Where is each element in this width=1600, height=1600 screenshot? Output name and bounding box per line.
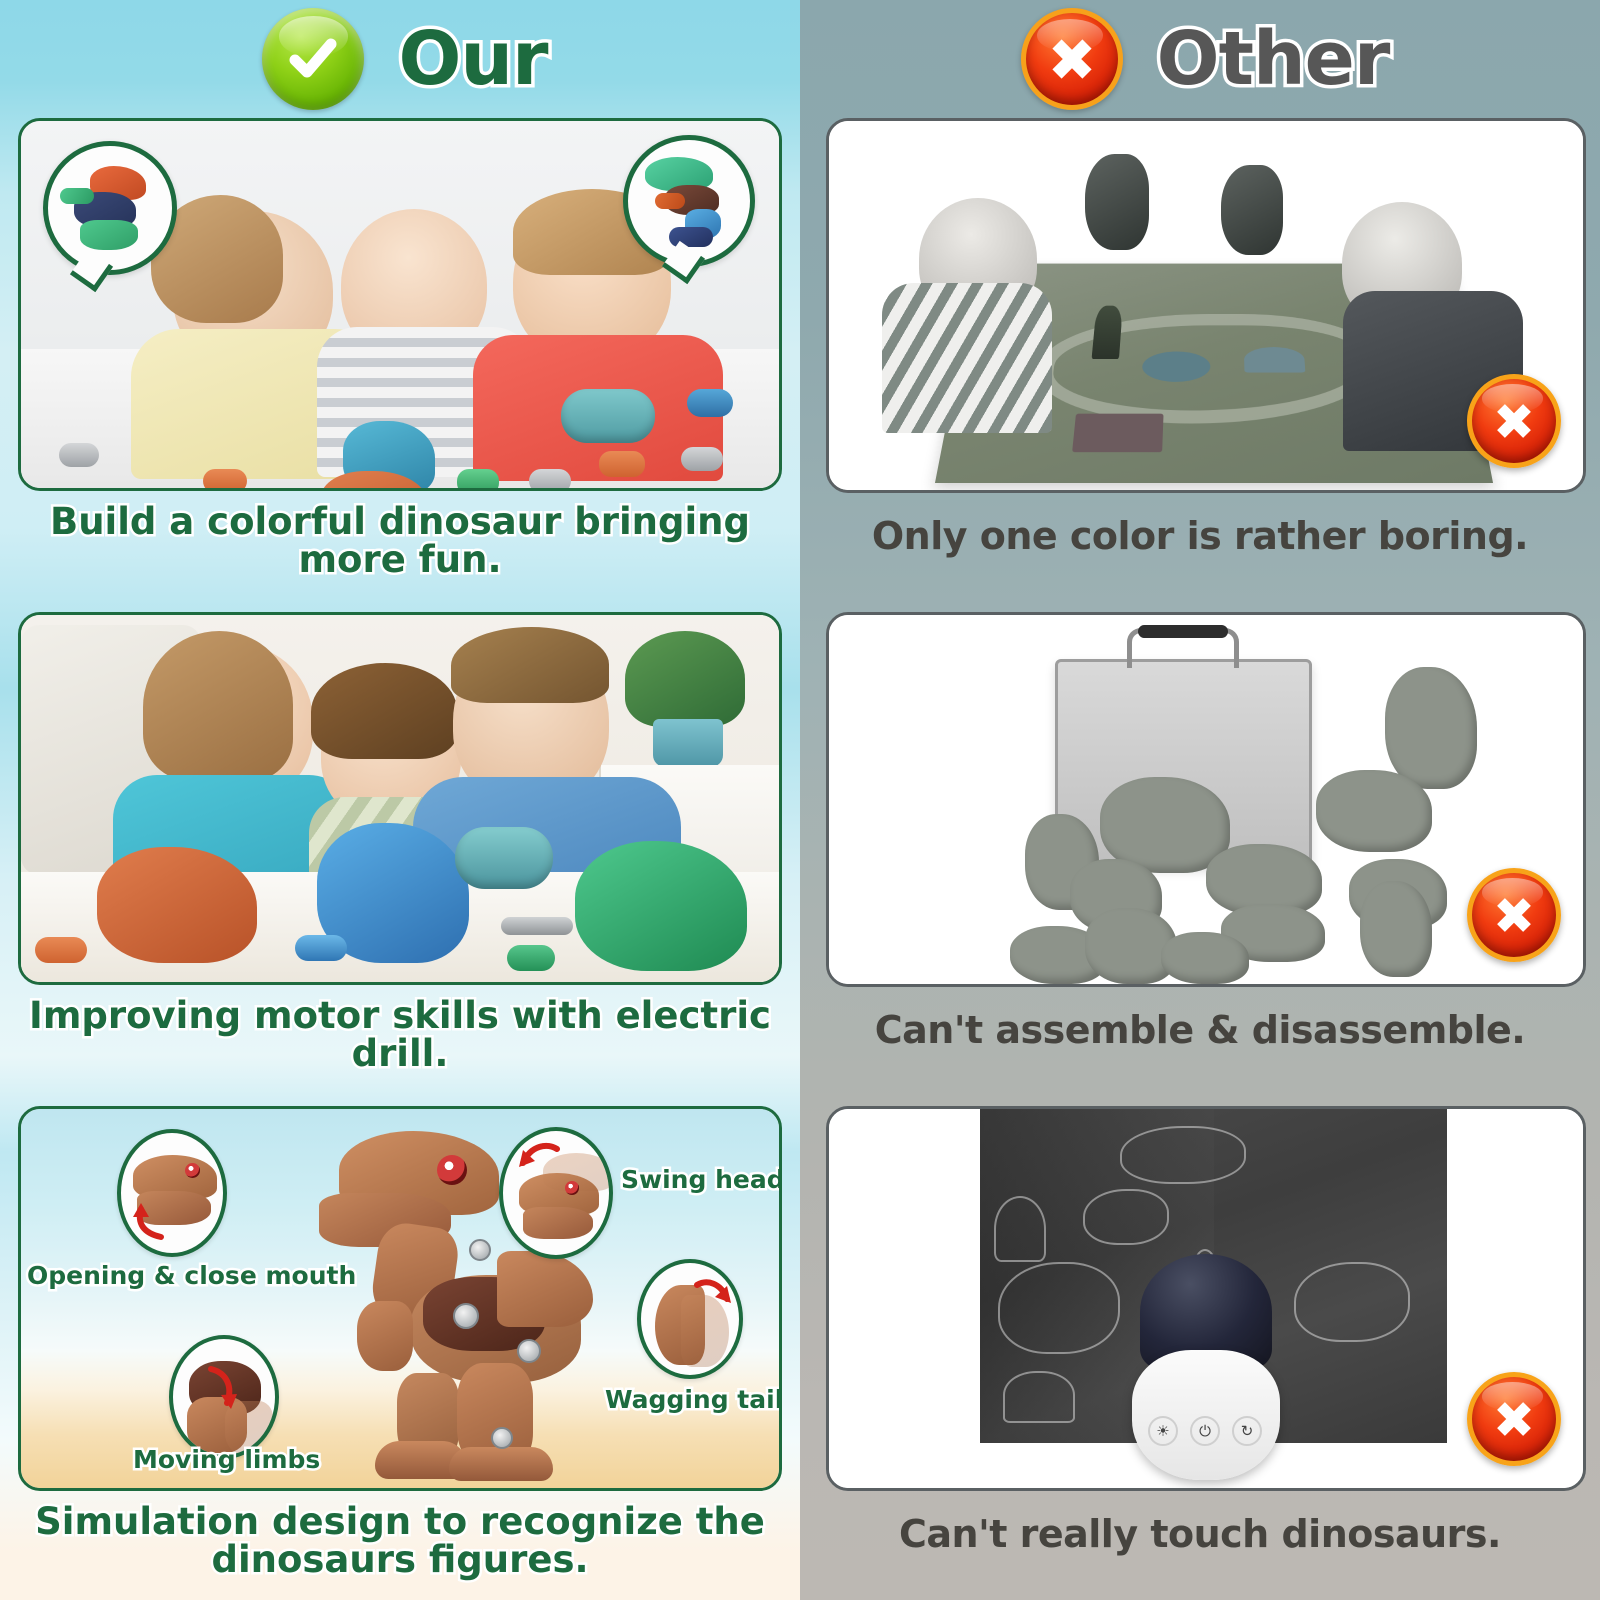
callout-raptor-art [60,162,160,254]
feature-label-swing-head: Swing head [621,1165,782,1194]
photo-feature-dinosaur-diagram: Opening & close mouth Swing head [18,1106,782,1491]
x-circle-icon [1467,374,1561,468]
electric-drill-toy [561,389,655,443]
suitcase-handle [1127,628,1239,668]
playmat-pond [1141,351,1210,381]
toy-dino-green-triceratops [575,841,747,971]
toy-screw-d [203,469,247,491]
toy-dino-gray-a [1085,154,1149,250]
x-circle-icon [1021,8,1123,110]
our-header: Our [0,0,800,118]
projection-spinosaurus [1083,1189,1169,1245]
other-caption-1: Only one color is rather boring. [800,493,1600,557]
toy-screw-b [127,489,171,491]
feature-bubble-mouth [117,1129,227,1257]
photo-family-using-electric-drill [18,612,782,985]
callout-triceratops-art [639,155,739,247]
feature-label-moving-limbs: Moving limbs [133,1445,320,1474]
projection-trex [998,1262,1120,1354]
playmat-building [1072,414,1163,453]
rotate-button[interactable]: ↻ [1232,1416,1262,1446]
feature-label-wagging-tail: Wagging tail [605,1385,782,1414]
our-column: Our [0,0,800,1600]
projection-triceratops [1294,1262,1410,1342]
check-circle-icon [262,8,364,110]
brightness-button[interactable]: ☀ [1148,1416,1178,1446]
scene-family-drill [21,615,779,982]
feature-bubble-swing-head [499,1127,613,1259]
other-row-3: ☀ ⏻ ↻ Can't really touch dinosaurs. [800,1106,1600,1600]
projection-palm-tree [994,1196,1046,1262]
x-circle-icon [1467,1372,1561,1466]
figure-triceratops [1161,932,1249,984]
other-title: Other [1157,16,1390,102]
other-row-1: Only one color is rather boring. [800,118,1600,612]
playmat-tent [1244,347,1306,373]
potted-plant [625,631,745,727]
our-caption-3: Simulation design to recognize the dinos… [0,1491,800,1580]
other-row-2: Can't assemble & disassemble. [800,612,1600,1106]
toy-screw-a [59,443,99,467]
comparison-board: Our [0,0,1600,1600]
callout-blue-triceratops [623,135,755,267]
toy-screw-green [507,945,555,971]
toy-part-blue [687,389,733,417]
other-column: Other [800,0,1600,1600]
photo-kids-with-colorful-dino-kit [18,118,782,491]
feature-bubble-wagging-tail [637,1259,743,1379]
photo-boys-on-gray-playmat [826,118,1586,493]
projection-volcano [1003,1371,1075,1423]
toy-screw-h [681,447,723,471]
figure-parasaurolophus [1360,881,1432,977]
toy-screw-blue [295,935,347,961]
child-boy-green-hair [311,663,457,759]
other-caption-2: Can't assemble & disassemble. [800,987,1600,1051]
photo-dinosaur-night-light-projector: ☀ ⏻ ↻ [826,1106,1586,1491]
playmat-tree-b [1091,306,1122,359]
projector-base: ☀ ⏻ ↻ [1132,1350,1280,1480]
feature-bubble-moving-limbs [169,1335,279,1459]
child-left-boy-shirt [882,283,1052,433]
power-button[interactable]: ⏻ [1190,1416,1220,1446]
x-circle-icon [1467,868,1561,962]
our-row-2: Improving motor skills with electric dri… [0,612,800,1106]
toy-screw-g [599,451,645,477]
figure-stegosaurus [1316,770,1432,852]
our-caption-1: Build a colorful dinosaur bringing more … [0,491,800,580]
toy-dino-orange [97,847,257,963]
toy-screw-e [457,469,499,491]
other-caption-3: Can't really touch dinosaurs. [800,1491,1600,1555]
callout-green-blue-raptor [43,141,177,275]
our-row-3: Opening & close mouth Swing head [0,1106,800,1600]
our-caption-2: Improving motor skills with electric dri… [0,985,800,1074]
screwdriver-tool [501,917,573,935]
our-row-1: Build a colorful dinosaur bringing more … [0,118,800,612]
scene-feature-dino: Opening & close mouth Swing head [21,1109,779,1488]
other-header: Other [800,0,1600,118]
feature-label-mouth: Opening & close mouth [27,1261,356,1290]
adult-father-hair [451,627,609,703]
projection-pterodactyl [1120,1126,1246,1184]
figure-brachiosaurus-tall [1385,667,1477,789]
our-title: Our [398,16,547,102]
toy-screw-group [35,937,87,963]
scene-kids-table [21,121,779,488]
plant-pot [653,719,723,767]
photo-suitcase-with-gray-figures [826,612,1586,987]
toy-screw-f [529,469,571,491]
electric-drill-toy [455,827,553,889]
child-girl-blue-hair [143,631,293,781]
toy-dino-gray-b [1221,165,1283,255]
